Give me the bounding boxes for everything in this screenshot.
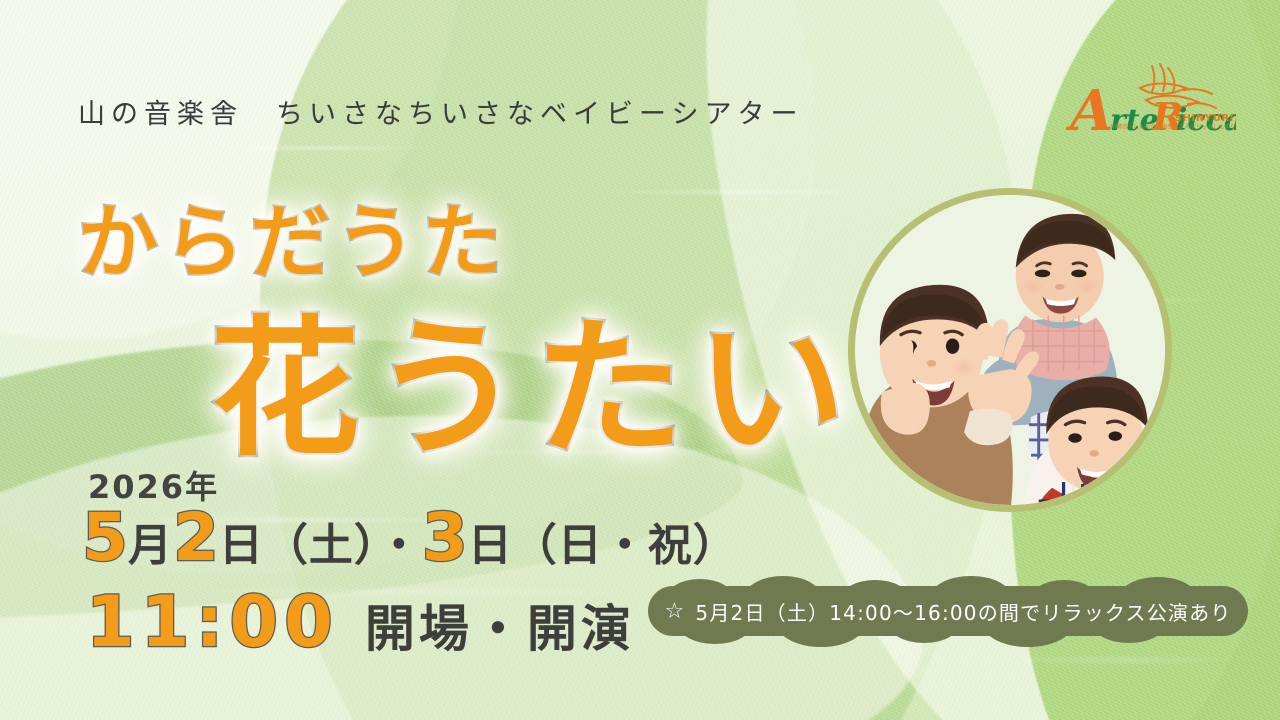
relax-performance-banner: ☆ 5月2日（土）14:00〜16:00の間でリラックス公演あり [648, 586, 1248, 636]
date-day2-label: 日（日・祝） [468, 520, 738, 571]
main-title: 花うたい [210, 268, 858, 485]
poster-canvas: 山の音楽舎 ちいさなちいさなベイビーシアター A rte R icca [0, 0, 1280, 720]
time-value: 11:00 [86, 581, 339, 663]
time-label: 開場・開演 [365, 600, 635, 658]
event-time: 11:00開場・開演 [86, 587, 635, 657]
date-month-number: 5 [82, 499, 128, 576]
date-day2-number: 3 [422, 499, 468, 576]
arte-ricca-logo[interactable]: A rte R icca [1066, 58, 1236, 148]
date-day1-label: 日（土） [219, 520, 377, 571]
date-day1-number: 2 [173, 499, 219, 576]
svg-text:A: A [1066, 78, 1113, 144]
event-date: 5月2日（土）・3日（日・祝） [82, 505, 738, 571]
star-icon: ☆ [664, 599, 685, 624]
date-separator: ・ [377, 520, 422, 571]
series-subtitle: 山の音楽舎 ちいさなちいさなベイビーシアター [78, 92, 803, 131]
banner-text-row: ☆ 5月2日（土）14:00〜16:00の間でリラックス公演あり [648, 586, 1248, 636]
date-month-label: 月 [128, 520, 173, 571]
banner-note-text: 5月2日（土）14:00〜16:00の間でリラックス公演あり [695, 597, 1231, 626]
babies-photo [848, 188, 1172, 512]
logo-subtitle: 川崎市・しんゆり芸術祭 アルテリッカしんゆり [1080, 122, 1236, 130]
